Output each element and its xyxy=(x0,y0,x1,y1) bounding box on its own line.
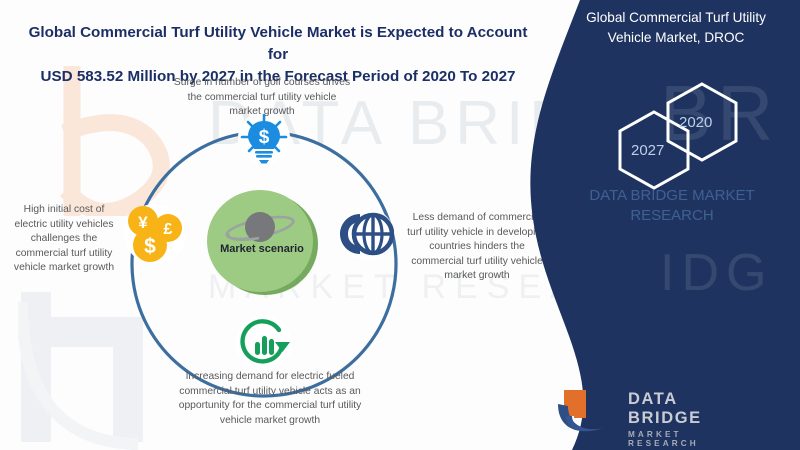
infographic-canvas: DATA BRIDGE MARKET RESEARCH Global Comme… xyxy=(0,0,800,450)
logo-primary-text: DATA BRIDGE xyxy=(628,390,736,428)
page-title-line-1: Global Commercial Turf Utility Vehicle M… xyxy=(18,22,538,66)
svg-text:$: $ xyxy=(144,235,156,258)
data-bridge-logo-icon xyxy=(556,388,622,436)
callout-left-line-5: vehicle market growth xyxy=(2,261,126,276)
side-panel-brand-line-2: RESEARCH xyxy=(552,206,792,226)
globe-phone-icon xyxy=(338,208,394,260)
callout-left-line-4: commercial turf utility xyxy=(2,247,126,262)
callout-left-line-1: High initial cost of xyxy=(2,203,126,218)
side-panel-title: Global Commercial Turf Utility Vehicle M… xyxy=(558,8,794,47)
center-label: Market scenario xyxy=(203,243,321,255)
callout-top-line-2: the commercial turf utility vehicle xyxy=(158,91,366,106)
hexagon-shapes xyxy=(550,78,800,198)
callout-bottom-line-1: Increasing demand for electric fueled xyxy=(160,370,380,385)
callout-top-line-1: Surge in number of golf courses drives xyxy=(158,76,366,91)
callout-bottom: Increasing demand for electric fueled co… xyxy=(160,370,380,428)
side-panel-brand-line-1: DATA BRIDGE MARKET xyxy=(552,186,792,206)
logo[interactable]: DATA BRIDGE MARKET RESEARCH xyxy=(556,388,736,436)
callout-bottom-line-2: commercial turf utility vehicle acts as … xyxy=(160,385,380,400)
growth-refresh-chart-icon xyxy=(236,316,292,370)
logo-secondary-text: MARKET RESEARCH xyxy=(628,430,736,448)
logo-text: DATA BRIDGE MARKET RESEARCH xyxy=(628,390,736,448)
side-panel-title-line-1: Global Commercial Turf Utility xyxy=(558,8,794,28)
callout-bottom-line-4: vehicle market growth xyxy=(160,414,380,429)
node-bottom-growth[interactable] xyxy=(236,316,292,370)
side-panel: BR IDG Global Commercial Turf Utility Ve… xyxy=(510,0,800,450)
svg-text:IDG: IDG xyxy=(660,244,773,302)
side-panel-title-line-2: Vehicle Market, DROC xyxy=(558,28,794,48)
node-left-coins[interactable]: ¥ £ $ xyxy=(124,204,186,264)
svg-text:£: £ xyxy=(164,221,173,238)
callout-left: High initial cost of electric utility ve… xyxy=(2,203,126,276)
callout-top: Surge in number of golf courses drives t… xyxy=(158,76,366,120)
callout-bottom-line-3: opportunity for the commercial turf util… xyxy=(160,399,380,414)
callout-top-line-3: market growth xyxy=(158,105,366,120)
currency-coins-icon: ¥ £ $ xyxy=(124,204,186,264)
node-right-globe[interactable] xyxy=(338,208,394,260)
svg-text:$: $ xyxy=(259,127,270,148)
hexagon-group: 2020 2027 xyxy=(550,78,800,198)
hexagon-2027-label: 2027 xyxy=(631,142,664,159)
side-panel-brand: DATA BRIDGE MARKET RESEARCH xyxy=(552,186,792,227)
hexagon-2020-label: 2020 xyxy=(679,114,712,131)
callout-left-line-2: electric utility vehicles xyxy=(2,218,126,233)
callout-left-line-3: challenges the xyxy=(2,232,126,247)
